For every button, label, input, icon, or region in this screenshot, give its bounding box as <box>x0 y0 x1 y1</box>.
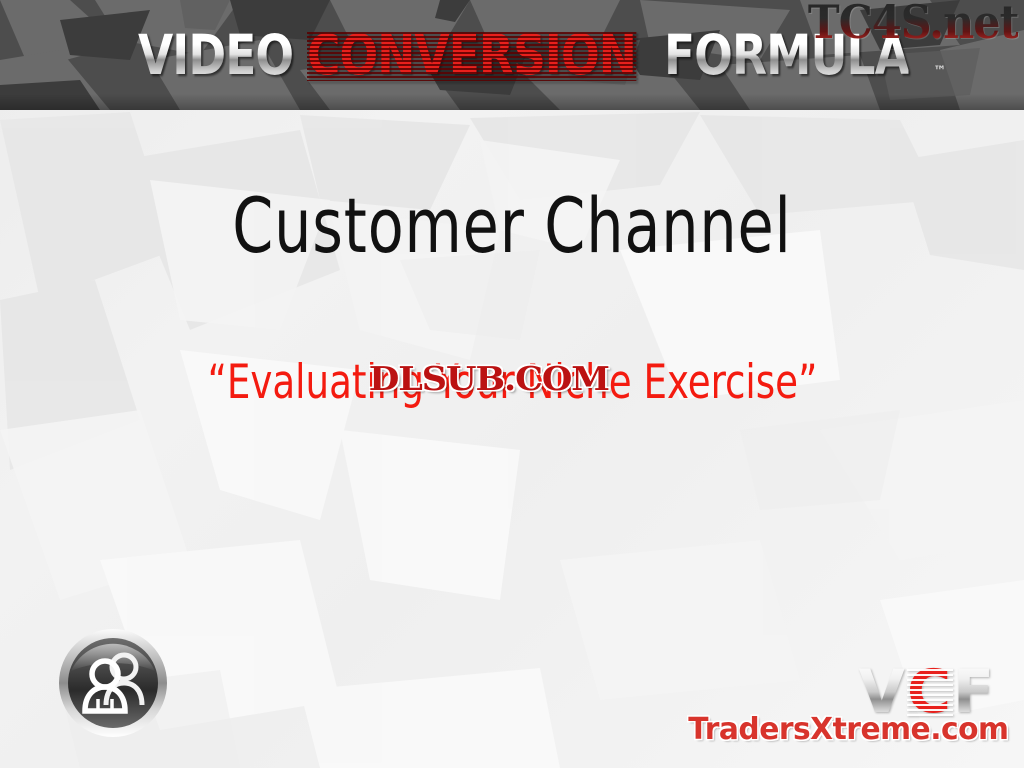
people-icon[interactable] <box>57 627 169 739</box>
trademark-symbol: ™ <box>933 64 945 79</box>
header-bottom-shadow <box>0 94 1024 110</box>
header-banner: VIDEO CONVERSION FORMULA ™ TC4S.net <box>0 0 1024 110</box>
page-title: Customer Channel <box>72 188 953 264</box>
subtitle-text: “Evaluating Your Niche Exercise” <box>207 358 817 407</box>
presentation-slide: VIDEO CONVERSION FORMULA ™ TC4S.net Cust… <box>0 0 1024 768</box>
tradersxtreme-logo[interactable]: TradersXtreme.com <box>688 715 1008 745</box>
brand-word-video: VIDEO <box>138 28 293 83</box>
subtitle-container: “Evaluating Your Niche Exercise” <box>0 358 1024 407</box>
brand-word-conversion: CONVERSION <box>307 28 636 83</box>
tc4s-logo[interactable]: TC4S.net <box>807 0 1018 46</box>
